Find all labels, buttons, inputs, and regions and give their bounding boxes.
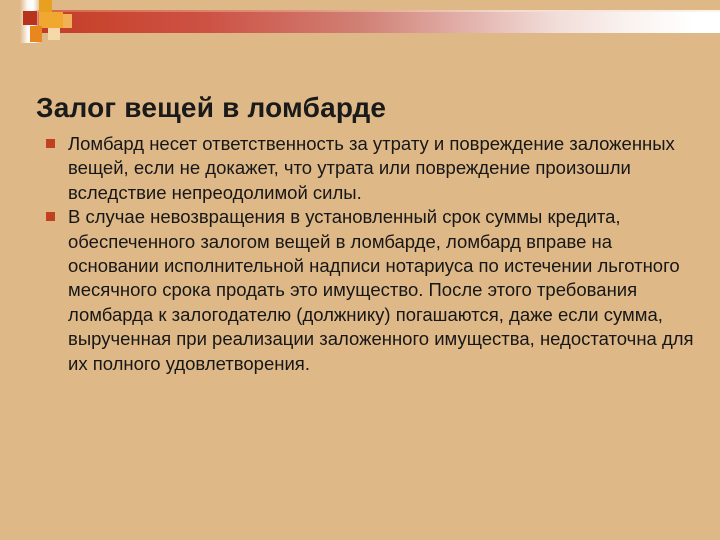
- decorative-header-band: [0, 0, 720, 48]
- decorative-gradient-rule: [28, 12, 720, 33]
- bullet-list: Ломбард несет ответственность за утрату …: [44, 132, 704, 376]
- slide-canvas: Залог вещей в ломбарде Ломбард несет отв…: [0, 0, 720, 540]
- decorative-square-orange: [30, 26, 42, 42]
- decorative-square-dark-red: [23, 11, 37, 25]
- decorative-square-amber: [39, 12, 63, 28]
- list-item-text: В случае невозвращения в установленный с…: [68, 205, 704, 376]
- square-bullet-icon: [46, 212, 55, 221]
- slide-title: Залог вещей в ломбарде: [36, 91, 696, 125]
- square-bullet-icon: [46, 139, 55, 148]
- list-item: В случае невозвращения в установленный с…: [44, 205, 704, 376]
- list-item-text: Ломбард несет ответственность за утрату …: [68, 132, 704, 205]
- decorative-square-pale: [48, 28, 60, 40]
- list-item: Ломбард несет ответственность за утрату …: [44, 132, 704, 205]
